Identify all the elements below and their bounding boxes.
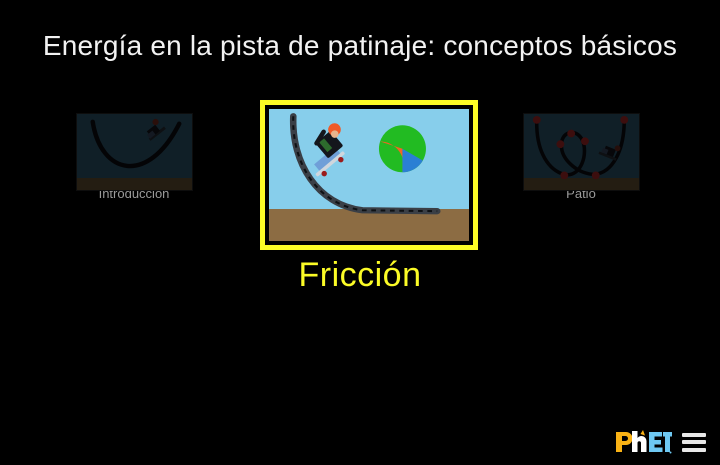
phet-logo[interactable] (614, 429, 672, 455)
screen-thumbnail-patio[interactable] (523, 113, 640, 191)
screen-button-patio[interactable]: Patio (481, 100, 681, 201)
thumbnail-canvas (77, 114, 192, 190)
hamburger-menu-icon[interactable] (682, 433, 706, 452)
screen-label-friccion: Fricción (260, 256, 460, 295)
skater-graphic (524, 114, 639, 190)
screen-button-friccion[interactable]: Fricción (260, 100, 460, 295)
menu-bar-1 (682, 433, 706, 437)
screen-chooser: Introducción (0, 100, 720, 320)
menu-bar-3 (682, 448, 706, 452)
thumbnail-canvas (269, 109, 469, 241)
screen-button-introduccion[interactable]: Introducción (34, 100, 234, 201)
thumbnail-border (267, 107, 471, 243)
screen-thumbnail-introduccion[interactable] (76, 113, 193, 191)
skater-graphic (77, 114, 192, 190)
menu-bar-2 (682, 440, 706, 444)
thumbnail-canvas (524, 114, 639, 190)
screen-thumbnail-friccion[interactable] (260, 100, 478, 250)
page-title: Energía en la pista de patinaje: concept… (0, 30, 720, 62)
energy-pie-chart (269, 109, 469, 241)
phet-footer-bar (614, 429, 706, 455)
